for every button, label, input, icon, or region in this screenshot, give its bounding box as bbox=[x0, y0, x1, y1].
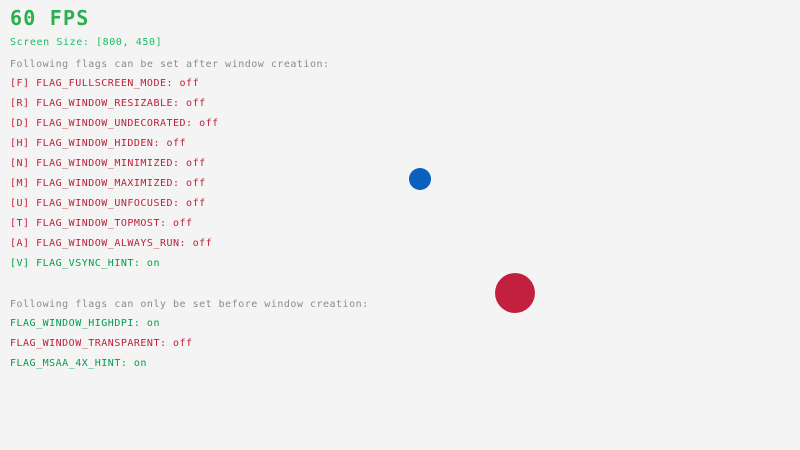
red-ball-shape bbox=[495, 273, 535, 313]
blue-ball-shape bbox=[409, 168, 431, 190]
flag-row-flag-window-resizable[interactable]: [R] FLAG_WINDOW_RESIZABLE: off bbox=[10, 94, 219, 114]
after-creation-flag-list: [F] FLAG_FULLSCREEN_MODE: off[R] FLAG_WI… bbox=[10, 74, 219, 274]
flag-row-flag-window-undecorated[interactable]: [D] FLAG_WINDOW_UNDECORATED: off bbox=[10, 114, 219, 134]
raylib-window-canvas: 60 FPS Screen Size: [800, 450] Following… bbox=[0, 0, 800, 450]
after-creation-section-header: Following flags can be set after window … bbox=[10, 58, 330, 72]
fps-counter: 60 FPS bbox=[10, 6, 89, 30]
before-creation-flag-list: FLAG_WINDOW_HIGHDPI: onFLAG_WINDOW_TRANS… bbox=[10, 314, 193, 374]
flag-row-flag-window-hidden[interactable]: [H] FLAG_WINDOW_HIDDEN: off bbox=[10, 134, 219, 154]
screen-size-label: Screen Size: [800, 450] bbox=[10, 36, 162, 50]
flag-row-flag-fullscreen-mode[interactable]: [F] FLAG_FULLSCREEN_MODE: off bbox=[10, 74, 219, 94]
flag-row-flag-window-always-run[interactable]: [A] FLAG_WINDOW_ALWAYS_RUN: off bbox=[10, 234, 219, 254]
flag-row-flag-window-unfocused[interactable]: [U] FLAG_WINDOW_UNFOCUSED: off bbox=[10, 194, 219, 214]
flag-row-flag-window-highdpi: FLAG_WINDOW_HIGHDPI: on bbox=[10, 314, 193, 334]
before-creation-section-header: Following flags can only be set before w… bbox=[10, 298, 369, 312]
flag-row-flag-vsync-hint[interactable]: [V] FLAG_VSYNC_HINT: on bbox=[10, 254, 219, 274]
flag-row-flag-window-transparent: FLAG_WINDOW_TRANSPARENT: off bbox=[10, 334, 193, 354]
flag-row-flag-window-maximized[interactable]: [M] FLAG_WINDOW_MAXIMIZED: off bbox=[10, 174, 219, 194]
flag-row-flag-msaa-4x-hint: FLAG_MSAA_4X_HINT: on bbox=[10, 354, 193, 374]
flag-row-flag-window-topmost[interactable]: [T] FLAG_WINDOW_TOPMOST: off bbox=[10, 214, 219, 234]
flag-row-flag-window-minimized[interactable]: [N] FLAG_WINDOW_MINIMIZED: off bbox=[10, 154, 219, 174]
